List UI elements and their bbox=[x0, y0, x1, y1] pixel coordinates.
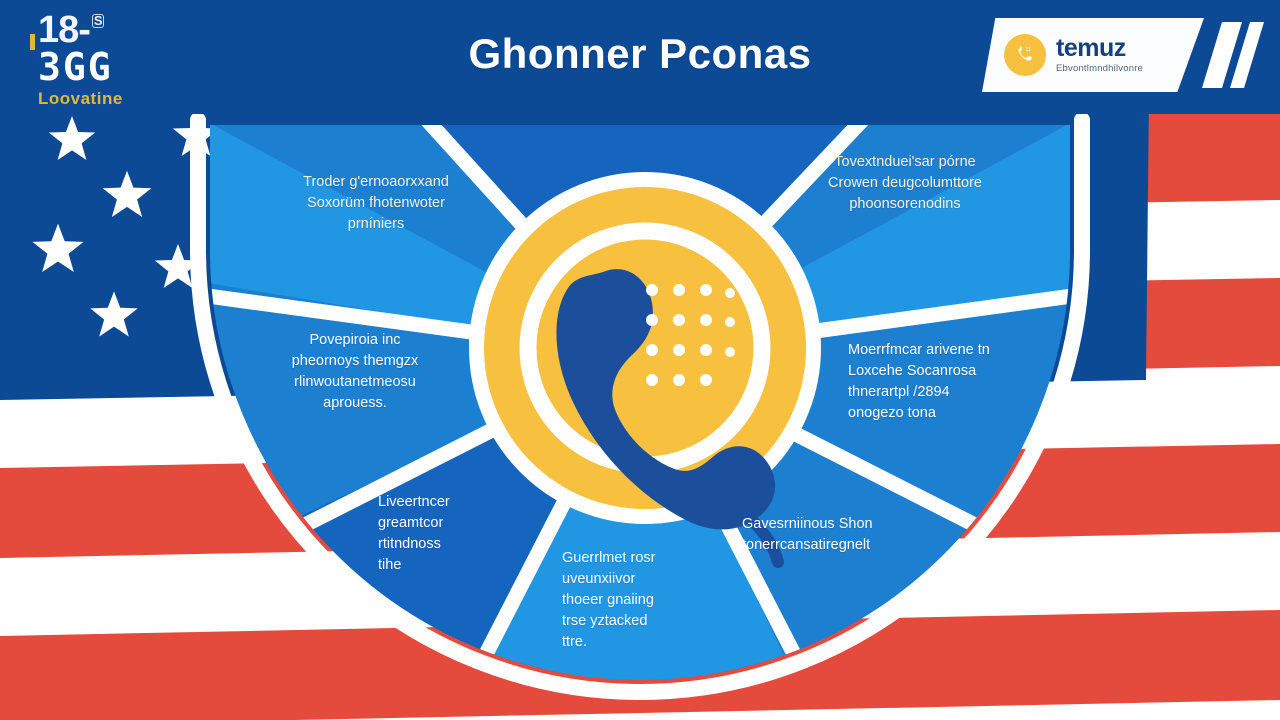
brand-line-1: 18- bbox=[38, 12, 90, 48]
brand-mark-left: 18- S 3GG Loovatine bbox=[38, 12, 123, 109]
brand-superscript: S bbox=[92, 14, 104, 28]
logo-phone-badge bbox=[1004, 34, 1046, 76]
logo-tagline: Ebvontlmndhilvonre bbox=[1056, 63, 1143, 74]
brand-accent-tick bbox=[30, 34, 35, 50]
logo-text-wrap: temuz Ebvontlmndhilvonre bbox=[1056, 36, 1143, 74]
logo-name: temuz bbox=[1056, 36, 1143, 61]
brand-line-3: Loovatine bbox=[38, 89, 123, 109]
phone-icon bbox=[1013, 43, 1037, 67]
brand-line-2: 3GG bbox=[38, 48, 123, 86]
logo-plate[interactable]: temuz Ebvontlmndhilvonre bbox=[982, 18, 1204, 92]
brand-line-1-row: 18- S bbox=[38, 12, 123, 48]
infographic-canvas: Ghonner Pconas 18- S 3GG Loovatine temuz… bbox=[0, 0, 1280, 720]
logo-slash-accent bbox=[1202, 22, 1264, 88]
